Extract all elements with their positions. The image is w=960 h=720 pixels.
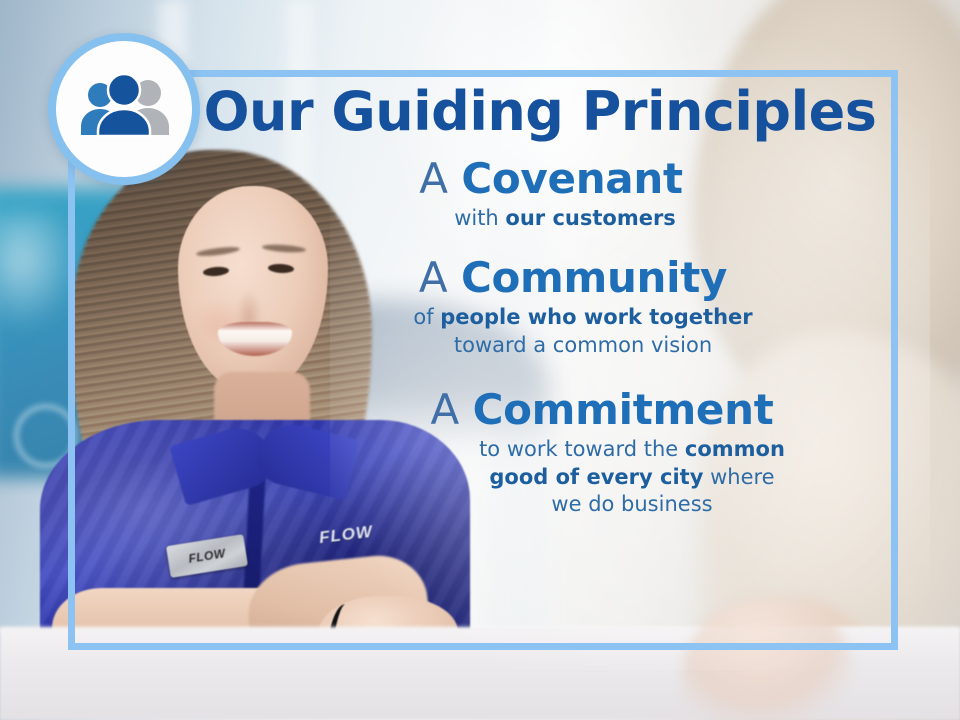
- guiding-principles-poster: FLOW FLOW Our Guiding Principle: [0, 0, 960, 720]
- principle-commitment-word: Commitment: [473, 385, 774, 434]
- page-title: Our Guiding Principles: [200, 84, 880, 141]
- display-glare: [0, 212, 80, 332]
- copy-block: Our Guiding Principles A Covenant with o…: [200, 84, 880, 525]
- principle-commitment: A Commitment to work toward the commongo…: [200, 386, 880, 519]
- principle-covenant-article: A: [419, 154, 448, 203]
- principle-community-title: A Community: [266, 254, 880, 301]
- principle-community-article: A: [419, 253, 448, 302]
- principle-covenant-title: A Covenant: [222, 155, 880, 202]
- principle-commitment-title: A Commitment: [324, 386, 880, 433]
- principle-commitment-subtext: to work toward the commongood of every c…: [324, 436, 880, 519]
- principle-community: A Community of people who work togethert…: [200, 254, 880, 359]
- principle-community-subtext: of people who work togethertoward a comm…: [266, 304, 880, 359]
- principle-covenant-word: Covenant: [461, 154, 682, 203]
- people-group-icon: [72, 74, 176, 144]
- customer-hand-on-desk: [682, 602, 852, 720]
- principle-community-word: Community: [461, 253, 727, 302]
- principle-covenant: A Covenant with our customers: [200, 155, 880, 233]
- principle-commitment-article: A: [431, 385, 460, 434]
- name-badge-brand-text: FLOW: [187, 546, 226, 566]
- people-badge: [48, 33, 200, 185]
- principle-covenant-subtext: with our customers: [222, 205, 880, 233]
